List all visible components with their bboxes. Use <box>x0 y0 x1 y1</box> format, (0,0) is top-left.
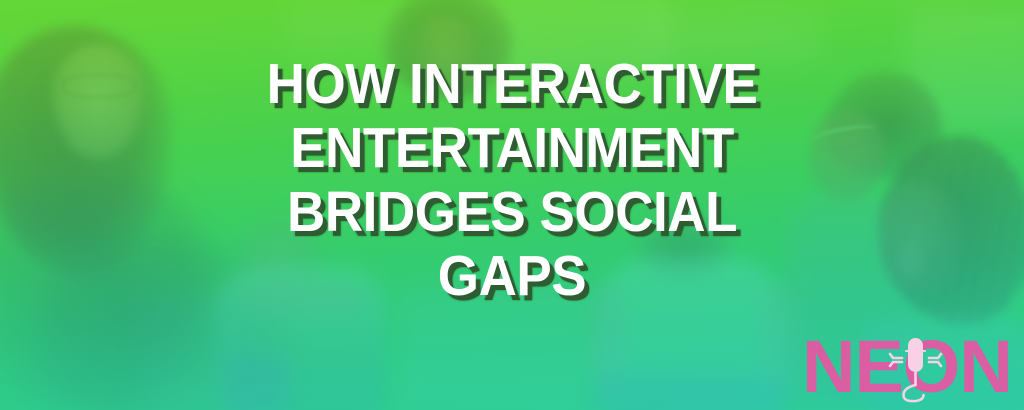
banner-headline: HOW INTERACTIVE ENTERTAINMENT BRIDGES SO… <box>36 52 988 308</box>
neon-wordmark-group: NEON <box>802 325 1012 406</box>
headline-line-4: GAPS <box>36 244 988 308</box>
neon-logo[interactable]: NEON <box>802 320 1012 406</box>
article-hero-banner: HOW INTERACTIVE ENTERTAINMENT BRIDGES SO… <box>0 0 1024 410</box>
headline-line-2: ENTERTAINMENT <box>36 116 988 180</box>
headline-line-1: HOW INTERACTIVE <box>36 52 988 116</box>
neon-wordmark-text: NEON <box>802 325 1012 406</box>
headline-line-3: BRIDGES SOCIAL <box>36 180 988 244</box>
